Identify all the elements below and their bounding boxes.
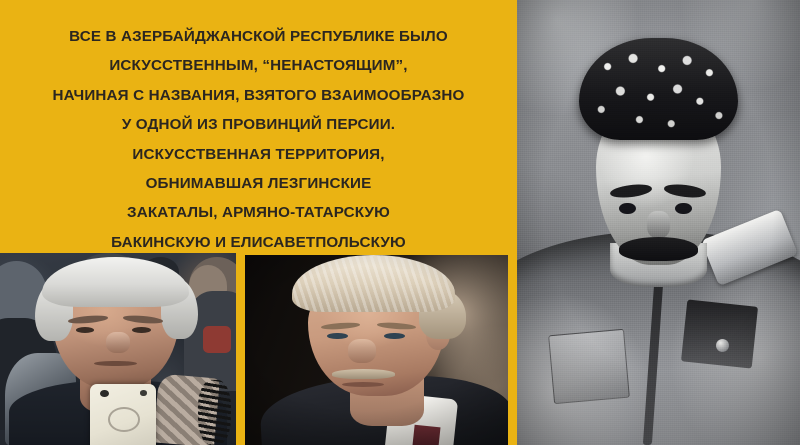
- smartphone-speaker-ring: [108, 407, 140, 432]
- quote-line-2: ИСКУССТВЕННЫМ, “НЕНАСТОЯЩИМ”,: [0, 51, 517, 80]
- crowd-man-nose: [106, 332, 130, 353]
- spokesman-vignette: [245, 255, 508, 445]
- crowd-red-object: [203, 326, 231, 353]
- smartphone-camera-lens: [100, 390, 109, 397]
- quote-text-block: ВСЕ В АЗЕРБАЙДЖАНСКОЙ РЕСПУБЛИКЕ БЫЛО ИС…: [0, 22, 517, 257]
- quote-line-7: ЗАКАТАЛЫ, АРМЯНО-ТАТАРСКУЮ: [0, 198, 517, 227]
- crowd-man-smartphone: [90, 384, 156, 445]
- portrait-officer: [517, 0, 800, 445]
- photo-spokesman: [245, 255, 508, 445]
- quote-line-4: У ОДНОЙ ИЗ ПРОВИНЦИЙ ПЕРСИИ.: [0, 110, 517, 139]
- slide-canvas: ВСЕ В АЗЕРБАЙДЖАНСКОЙ РЕСПУБЛИКЕ БЫЛО ИС…: [0, 0, 800, 445]
- crowd-man-eye-right: [132, 327, 151, 333]
- crowd-man-mouth: [94, 361, 136, 367]
- crowd-microphone-cable: [198, 380, 231, 445]
- quote-line-5: ИСКУССТВЕННАЯ ТЕРРИТОРИЯ,: [0, 140, 517, 169]
- officer-photo-surface: [517, 0, 800, 445]
- quote-line-1: ВСЕ В АЗЕРБАЙДЖАНСКОЙ РЕСПУБЛИКЕ БЫЛО: [0, 22, 517, 51]
- smartphone-flash: [140, 390, 147, 396]
- photo-crowd-man: [0, 253, 236, 445]
- officer-vignette: [517, 0, 800, 445]
- quote-line-6: ОБНИМАВШАЯ ЛЕЗГИНСКИЕ: [0, 169, 517, 198]
- quote-line-3: НАЧИНАЯ С НАЗВАНИЯ, ВЗЯТОГО ВЗАИМООБРАЗН…: [0, 81, 517, 110]
